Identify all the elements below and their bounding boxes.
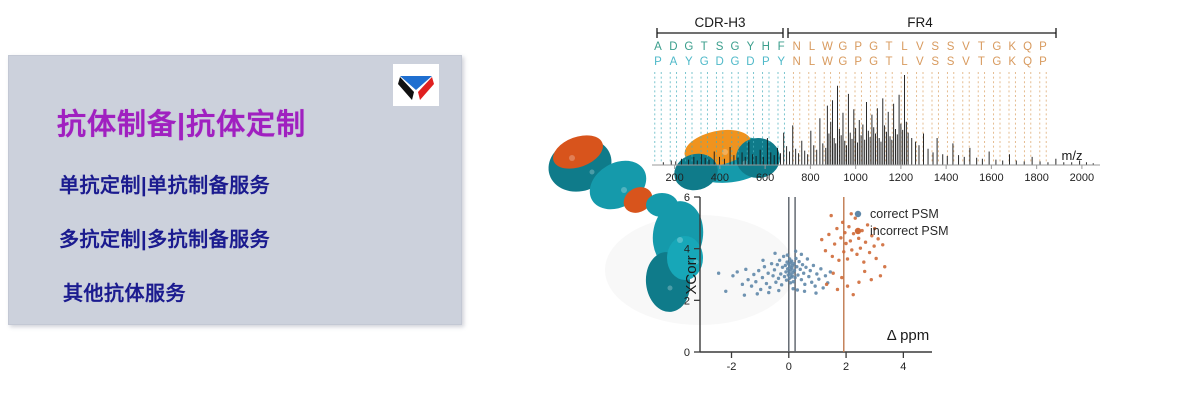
scatter-point: [883, 265, 886, 268]
seq-letter-top: P: [854, 41, 862, 53]
seq-letter-top: S: [931, 41, 939, 53]
scatter-point: [840, 276, 843, 279]
scatter-point: [859, 246, 862, 249]
scatter-point: [852, 232, 855, 235]
scatter-point: [846, 284, 849, 287]
scatter-point: [833, 242, 836, 245]
scatter-xtick-label: 0: [786, 361, 792, 373]
seq-letter-top: S: [716, 41, 724, 53]
seq-letter-top: G: [838, 41, 847, 53]
scatter-point: [782, 255, 785, 258]
seq-letter-top: T: [701, 41, 708, 53]
scatter-point: [824, 274, 827, 277]
scatter-point: [802, 272, 805, 275]
scatter-point: [827, 233, 830, 236]
scatter-point: [785, 278, 788, 281]
scatter-point: [793, 269, 796, 272]
seq-letter-bottom: N: [792, 56, 800, 68]
seq-letter-top: P: [1039, 41, 1047, 53]
scatter-point: [868, 251, 871, 254]
scatter-point: [872, 244, 875, 247]
scatter-point: [766, 272, 769, 275]
antibody-sequencing-figure: CDR-H3 FR4 APDAGYTGSDGGYDHPFYNNLLWWGGPPG…: [500, 0, 1200, 400]
legend-dot-incorrect: [855, 228, 861, 234]
scatter-xaxis-label: Δ ppm: [887, 327, 930, 344]
legend-dot-correct: [855, 211, 861, 217]
scatter-point: [771, 274, 774, 277]
scatter-xtick-label: 4: [900, 361, 906, 373]
seq-letter-top: Q: [1023, 41, 1032, 53]
seq-letter-top: D: [669, 41, 677, 53]
scatter-point: [821, 286, 824, 289]
region-label-fr4: FR4: [907, 15, 933, 30]
spectrum-tick-label: 1200: [889, 172, 913, 184]
scatter-point: [831, 272, 834, 275]
scatter-point: [796, 273, 799, 276]
scatter-point: [842, 250, 845, 253]
scatter-xtick-label: 2: [843, 361, 849, 373]
scatter-point: [841, 221, 844, 224]
scatter-point: [807, 275, 810, 278]
scatter-point: [794, 250, 797, 253]
scatter-point: [809, 269, 812, 272]
scatter-point: [801, 263, 804, 266]
seq-letter-bottom: T: [978, 56, 985, 68]
seq-letter-top: W: [822, 41, 833, 53]
scatter-point: [814, 291, 817, 294]
scatter-point: [874, 257, 877, 260]
spectrum-tick-label: 1400: [934, 172, 958, 184]
scatter-ytick-label: 0: [684, 347, 690, 359]
scatter-point: [796, 288, 799, 291]
seq-letter-top: L: [809, 41, 816, 53]
seq-letter-bottom: T: [885, 56, 892, 68]
seq-letter-bottom: Y: [777, 56, 785, 68]
seq-letter-top: G: [992, 41, 1001, 53]
seq-letter-bottom: G: [838, 56, 847, 68]
spectrum-tick-label: 600: [756, 172, 774, 184]
scatter-point: [724, 290, 727, 293]
scatter-point: [717, 272, 720, 275]
antibody-service-promo-panel: 抗体制备|抗体定制 单抗定制|单抗制备服务 多抗定制|多抗制备服务 其他抗体服务: [8, 55, 462, 325]
spectrum-tick-label: 200: [665, 172, 683, 184]
seq-letter-bottom: P: [654, 56, 662, 68]
scatter-point: [792, 262, 795, 265]
scatter-point: [847, 225, 850, 228]
page-title: 抗体制备|抗体定制: [57, 101, 306, 143]
scatter-point: [765, 282, 768, 285]
scatter-point: [837, 259, 840, 262]
scatter-point: [783, 275, 786, 278]
scatter-point: [777, 277, 780, 280]
seq-letter-bottom: D: [746, 56, 754, 68]
seq-letter-top: K: [1008, 41, 1016, 53]
scatter-point: [786, 253, 789, 256]
scatter-point: [813, 284, 816, 287]
seq-letter-bottom: S: [931, 56, 939, 68]
scatter-point: [795, 265, 798, 268]
scatter-point: [781, 266, 784, 269]
promo-item-polyclonal[interactable]: 多抗定制|多抗制备服务: [59, 223, 270, 252]
sequence-region-brackets: CDR-H3 FR4: [657, 15, 1056, 38]
seq-letter-top: G: [869, 41, 878, 53]
scatter-point: [763, 265, 766, 268]
scatter-point: [777, 289, 780, 292]
scatter-yaxis-label: XCorr: [683, 255, 700, 294]
scatter-point: [866, 223, 869, 226]
scatter-point: [825, 283, 828, 286]
scatter-point: [754, 280, 757, 283]
seq-letter-top: A: [654, 41, 662, 53]
scatter-point: [743, 293, 746, 296]
scatter-point: [791, 287, 794, 290]
scatter-point: [854, 216, 857, 219]
scatter-point: [850, 212, 853, 215]
scatter-point: [849, 239, 852, 242]
scatter-point: [761, 276, 764, 279]
spectrum-tick-label: 800: [801, 172, 819, 184]
scatter-point: [784, 264, 787, 267]
seq-letter-top: T: [885, 41, 892, 53]
scatter-point: [791, 274, 794, 277]
seq-letter-bottom: Q: [1023, 56, 1032, 68]
seq-letter-bottom: S: [947, 56, 955, 68]
scatter-point: [881, 243, 884, 246]
scatter-point: [773, 252, 776, 255]
seq-letter-top: G: [684, 41, 693, 53]
seq-letter-top: V: [916, 41, 924, 53]
seq-letter-bottom: A: [670, 56, 678, 68]
scatter-ytick-label: 4: [684, 244, 690, 256]
scatter-point: [792, 280, 795, 283]
scatter-point: [761, 259, 764, 262]
scatter-point: [852, 293, 855, 296]
scatter-point: [879, 274, 882, 277]
scatter-point: [812, 264, 815, 267]
seq-letter-top: G: [731, 41, 740, 53]
seq-letter-bottom: P: [854, 56, 862, 68]
scatter-point: [756, 292, 759, 295]
scatter-point: [803, 290, 806, 293]
scatter-point: [857, 281, 860, 284]
scatter-point: [741, 283, 744, 286]
scatter-point: [799, 268, 802, 271]
seq-letter-bottom: P: [1039, 56, 1047, 68]
seq-letter-bottom: G: [700, 56, 709, 68]
seq-letter-top: H: [762, 41, 770, 53]
scatter-point: [778, 259, 781, 262]
scatter-point: [800, 253, 803, 256]
seq-letter-top: N: [792, 41, 800, 53]
legend-label-incorrect: incorrect PSM: [870, 224, 949, 238]
scatter-point: [820, 238, 823, 241]
seq-letter-bottom: G: [992, 56, 1001, 68]
spectrum-tick-label: 1800: [1024, 172, 1048, 184]
peptide-sequence-alignment: APDAGYTGSDGGYDHPFYNNLLWWGGPPGGTTLLVVSSSS…: [654, 41, 1047, 68]
scatter-point: [817, 277, 820, 280]
scatter-point: [757, 269, 760, 272]
tricolor-chevron-logo-icon: [393, 64, 439, 106]
seq-letter-bottom: L: [809, 56, 816, 68]
scatter-point: [770, 262, 773, 265]
scatter-point: [824, 249, 827, 252]
scatter-point: [794, 257, 797, 260]
seq-letter-bottom: V: [916, 56, 924, 68]
scatter-point: [784, 270, 787, 273]
scatter-point: [750, 284, 753, 287]
seq-letter-bottom: W: [822, 56, 833, 68]
scatter-point: [767, 291, 770, 294]
scatter-point: [846, 257, 849, 260]
scatter-point: [752, 273, 755, 276]
spectrum-tick-label: 1600: [979, 172, 1003, 184]
scatter-point: [815, 272, 818, 275]
seq-letter-top: T: [978, 41, 985, 53]
seq-letter-bottom: G: [731, 56, 740, 68]
scatter-point: [774, 281, 777, 284]
scatter-point: [870, 278, 873, 281]
scatter-point: [768, 286, 771, 289]
seq-letter-bottom: P: [762, 56, 770, 68]
seq-letter-bottom: V: [962, 56, 970, 68]
scatter-point: [862, 260, 865, 263]
scatter-point: [835, 227, 838, 230]
scatter-point: [843, 231, 846, 234]
seq-letter-bottom: D: [715, 56, 723, 68]
spectrum-xaxis-label: m/z: [1062, 148, 1083, 163]
scatter-point: [855, 253, 858, 256]
promo-item-monoclonal[interactable]: 单抗定制|单抗制备服务: [59, 169, 270, 198]
seq-letter-top: S: [947, 41, 955, 53]
scatter-point: [779, 272, 782, 275]
scatter-point: [780, 283, 783, 286]
scatter-point: [810, 281, 813, 284]
figure-canvas: CDR-H3 FR4 APDAGYTGSDGGYDHPFYNNLLWWGGPPG…: [500, 0, 1200, 400]
scatter-point: [803, 283, 806, 286]
seq-letter-top: V: [962, 41, 970, 53]
scatter-point: [744, 268, 747, 271]
scatter-point: [850, 248, 853, 251]
seq-letter-top: L: [901, 41, 908, 53]
scatter-xaxis-ticks: -2024: [727, 352, 907, 373]
seq-letter-bottom: G: [869, 56, 878, 68]
scatter-point: [776, 263, 779, 266]
scatter-point: [839, 236, 842, 239]
seq-letter-bottom: L: [901, 56, 908, 68]
scatter-point: [746, 278, 749, 281]
seq-letter-top: F: [778, 41, 785, 53]
legend-label-correct: correct PSM: [870, 207, 939, 221]
scatter-point: [800, 278, 803, 281]
scatter-point: [831, 255, 834, 258]
promo-item-other-services[interactable]: 其他抗体服务: [63, 277, 186, 306]
scatter-point: [790, 259, 793, 262]
scatter-point: [836, 288, 839, 291]
spectrum-tick-label: 2000: [1070, 172, 1094, 184]
region-label-cdr-h3: CDR-H3: [694, 15, 745, 30]
scatter-ytick-label: 6: [684, 192, 690, 204]
scatter-legend: correct PSM incorrect PSM: [855, 207, 949, 238]
scatter-point: [804, 266, 807, 269]
spectrum-tick-label: 1000: [843, 172, 867, 184]
spectrum-tick-label: 400: [711, 172, 729, 184]
scatter-ytick-label: 2: [684, 295, 690, 307]
scatter-point: [806, 257, 809, 260]
scatter-xtick-label: -2: [727, 361, 737, 373]
scatter-point: [844, 242, 847, 245]
scatter-point: [731, 274, 734, 277]
scatter-point: [759, 288, 762, 291]
scatter-point: [773, 268, 776, 271]
scatter-point: [793, 276, 796, 279]
scatter-point: [857, 237, 860, 240]
scatter-point: [864, 241, 867, 244]
scatter-point: [736, 270, 739, 273]
scatter-point: [819, 267, 822, 270]
seq-letter-bottom: Y: [685, 56, 693, 68]
scatter-point: [863, 270, 866, 273]
seq-letter-top: Y: [747, 41, 755, 53]
seq-letter-bottom: K: [1008, 56, 1016, 68]
scatter-point: [829, 214, 832, 217]
scatter-point: [797, 260, 800, 263]
